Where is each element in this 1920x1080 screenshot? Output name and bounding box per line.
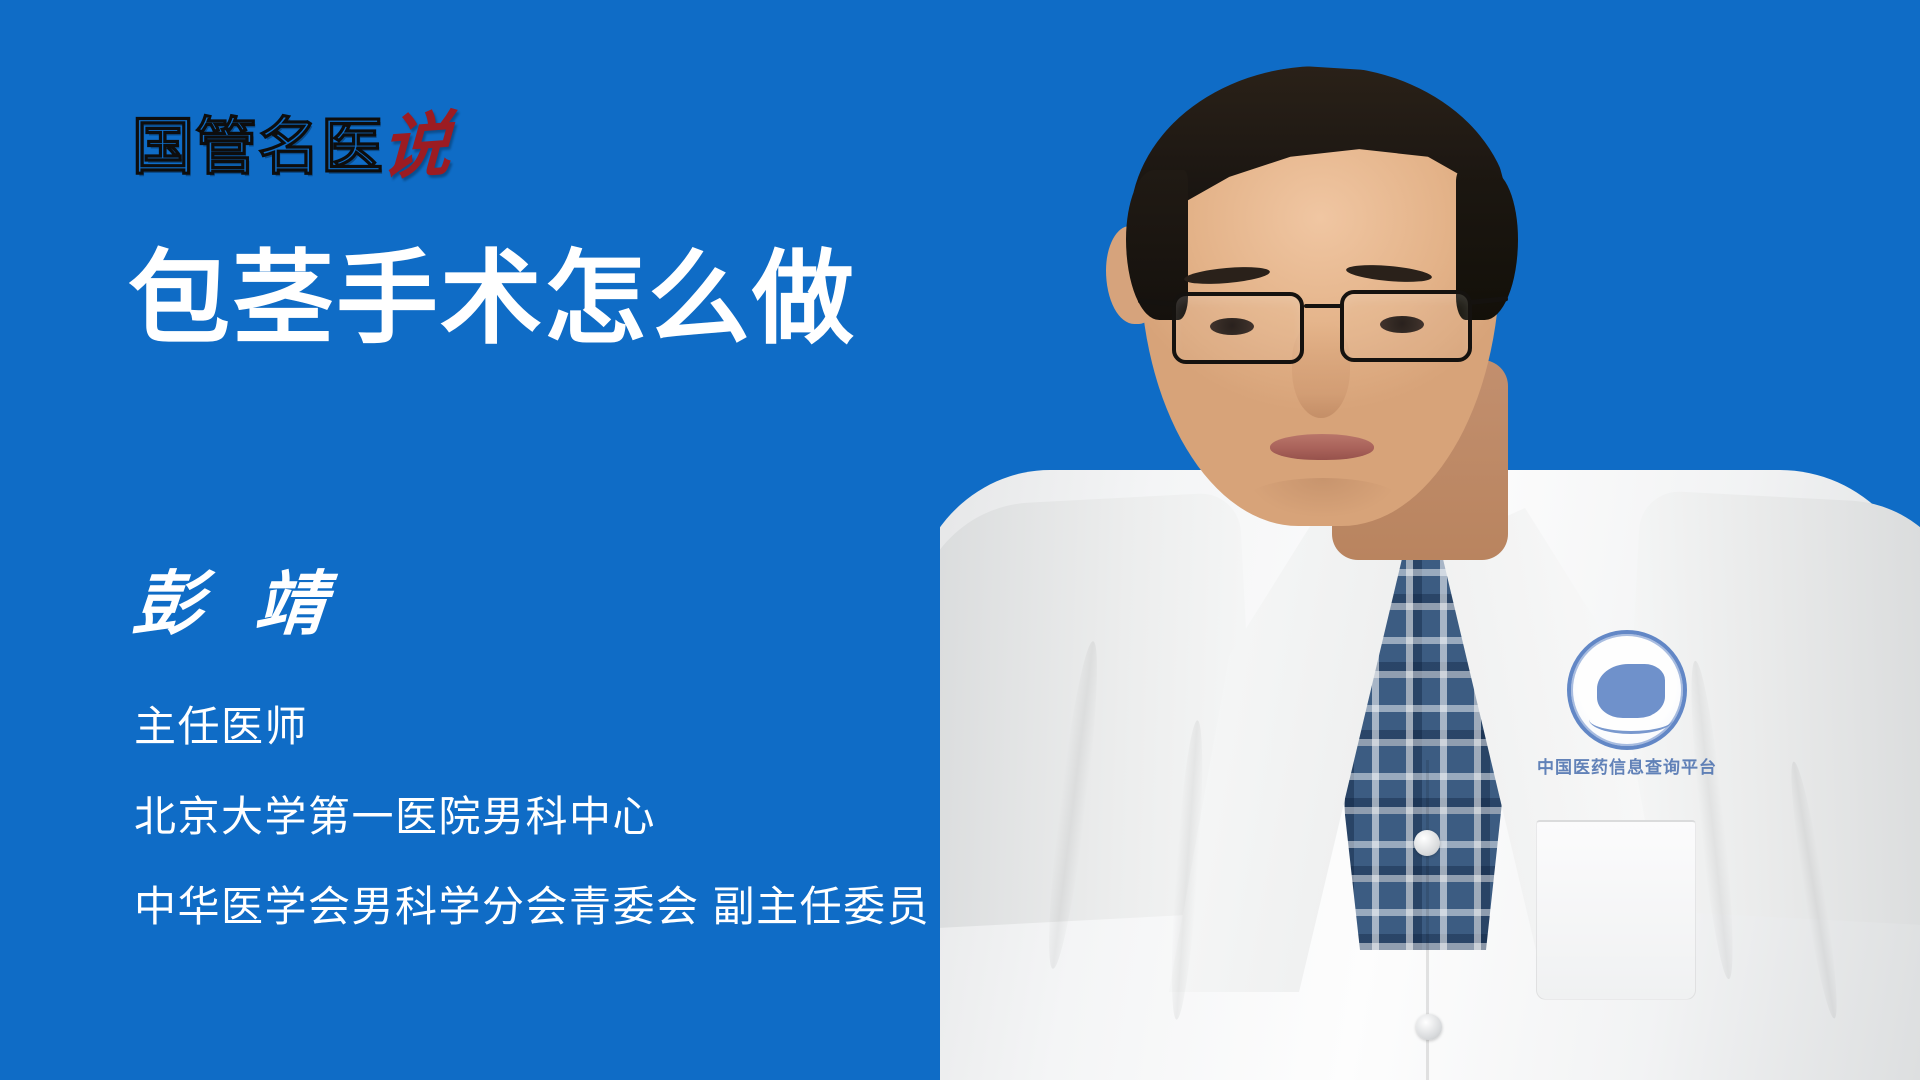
mouth [1270, 434, 1374, 460]
chin-shadow [1248, 478, 1398, 518]
eyeglass-bridge [1304, 304, 1342, 308]
brand-logo-main-text: 国管名医 [132, 116, 384, 178]
eyeglasses-icon [1136, 288, 1508, 370]
eyeglass-temple-right [1470, 296, 1508, 305]
doctor-portrait-photo: 中国医药信息查询平台 [940, 0, 1920, 1080]
page-title: 包茎手术怎么做 [128, 243, 856, 355]
lab-coat-chest-pocket [1536, 820, 1696, 1000]
eyeglass-temple-left [1138, 298, 1176, 307]
credential-line-society: 中华医学会男科学分会青委会 副主任委员 [134, 886, 930, 928]
text-panel: 国管名医 说 包茎手术怎么做 彭 靖 主任医师 北京大学第一医院男科中心 中华医… [0, 0, 1000, 1080]
credential-line-affiliation: 北京大学第一医院男科中心 [134, 796, 930, 838]
brand-logo: 国管名医 说 [132, 92, 450, 178]
lab-coat-button-upper [1414, 830, 1440, 856]
coat-badge: 中国医药信息查询平台 [1532, 630, 1722, 778]
video-cover-slide: 中国医药信息查询平台 国管名医 说 包茎手术怎么做 彭 靖 主任医师 北京大学第… [0, 0, 1920, 1080]
badge-outer-ring [1571, 634, 1683, 746]
credential-line-title: 主任医师 [134, 706, 930, 748]
eyeglass-lens-right [1340, 290, 1472, 362]
brand-logo-accent-text: 说 [380, 109, 452, 184]
doctor-credentials: 主任医师 北京大学第一医院男科中心 中华医学会男科学分会青委会 副主任委员 [134, 706, 930, 928]
china-map-emblem-icon [1567, 630, 1687, 750]
doctor-name: 彭 靖 [130, 567, 343, 641]
lab-coat-button-lower [1416, 1014, 1442, 1040]
eyeglass-lens-left [1172, 292, 1304, 364]
coat-badge-caption: 中国医药信息查询平台 [1532, 758, 1722, 778]
